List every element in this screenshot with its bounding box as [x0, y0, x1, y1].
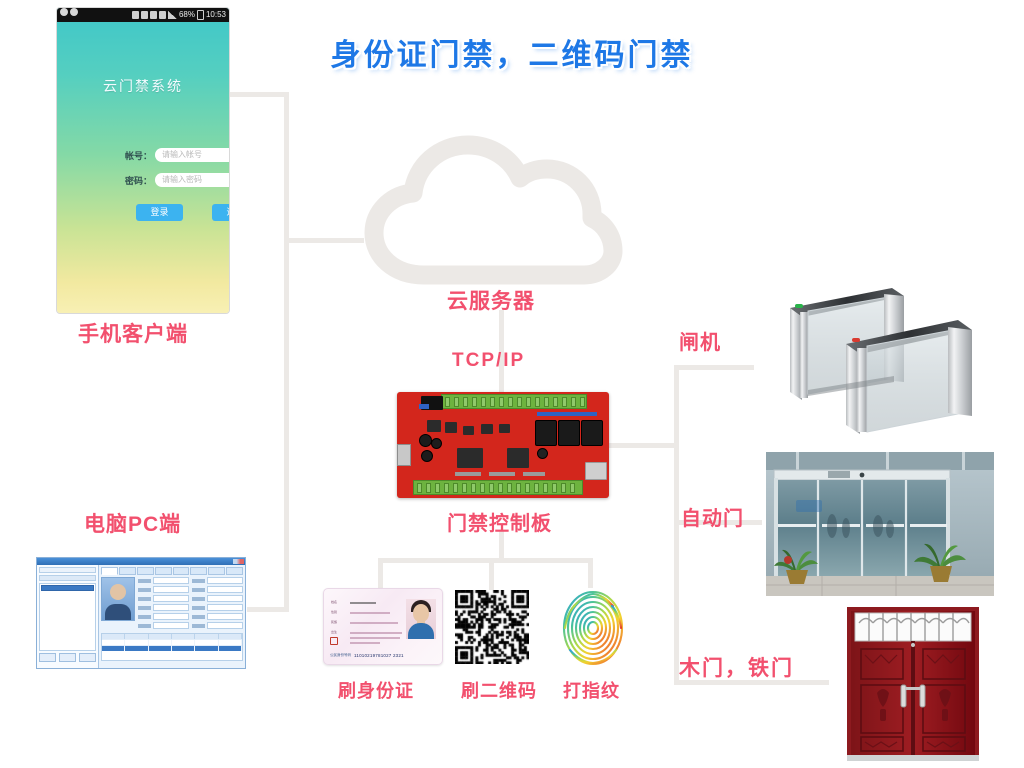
- pc-field-label: [138, 579, 151, 583]
- top-terminal-block: [441, 394, 587, 409]
- connector-phone-horizontal: [229, 92, 289, 97]
- alarm-icon: [150, 11, 157, 19]
- clock: 10:53: [206, 8, 226, 22]
- ic-chip: [499, 424, 510, 433]
- qr-code: [455, 590, 529, 664]
- fingerprint-icon: [560, 588, 626, 668]
- pc-delete-button: [79, 653, 96, 662]
- id-field-name: 姓名: [331, 600, 337, 604]
- pc-search-bar: [39, 567, 96, 573]
- id-portrait: [406, 599, 436, 639]
- pc-field-value: [207, 586, 243, 593]
- pc-tab: [101, 567, 118, 575]
- pc-form-fields-right: [192, 577, 243, 631]
- capacitor: [421, 450, 433, 462]
- pc-table-col: [172, 634, 195, 639]
- pc-field-value: [207, 622, 243, 629]
- pc-filter-bar: [39, 575, 96, 581]
- pc-table-col: [125, 634, 148, 639]
- password-input[interactable]: 请输入密码: [155, 173, 229, 187]
- pc-list-item: [41, 585, 94, 591]
- password-label: 密码：: [125, 174, 152, 187]
- id-card: 姓名 性别 民族 出生 公民身份号码 11010219781027 2321: [323, 588, 443, 665]
- connector-to-idcard: [378, 558, 383, 588]
- login-button[interactable]: 登录: [136, 204, 183, 221]
- pc-field-label: [192, 606, 205, 610]
- blue-trimmer: [419, 404, 429, 409]
- pc-button-row: [39, 653, 96, 662]
- pc-form-row: [192, 577, 243, 584]
- pc-table-col: [149, 634, 172, 639]
- pc-field-label: [138, 606, 151, 610]
- pc-table-col: [195, 634, 218, 639]
- access-control-board: [397, 392, 609, 498]
- pc-detail-panel: [99, 565, 245, 668]
- pc-table-col: [102, 634, 125, 639]
- notification-icon: [60, 8, 68, 16]
- pc-table-row: [102, 645, 242, 651]
- pc-field-value: [153, 613, 189, 620]
- automatic-sliding-door: [766, 452, 994, 596]
- connector-left-spine: [284, 92, 289, 612]
- pc-form-row: [192, 604, 243, 611]
- pc-form-row: [138, 595, 189, 602]
- pc-sidebar: [37, 565, 99, 668]
- pc-form-row: [138, 577, 189, 584]
- connector-board-right: [609, 443, 679, 448]
- pc-add-button: [39, 653, 56, 662]
- pc-field-value: [207, 595, 243, 602]
- ic-chip: [427, 420, 441, 432]
- phone-status-bar: 68% 10:53: [57, 8, 229, 22]
- qr-canvas: [455, 590, 529, 664]
- status-right-icons: 68% 10:53: [132, 8, 226, 22]
- capacitor: [419, 434, 432, 447]
- ic-chip: [445, 422, 457, 433]
- blue-components: [537, 412, 597, 416]
- police-emblem-icon: [330, 637, 338, 645]
- connector-right-spine: [674, 365, 679, 685]
- pc-field-value: [153, 622, 189, 629]
- pc-field-value: [153, 577, 189, 584]
- pc-form-row: [138, 586, 189, 593]
- bottom-terminal-block: [413, 480, 583, 495]
- pc-field-label: [138, 615, 151, 619]
- sim-icon: [159, 11, 166, 19]
- relay: [535, 420, 557, 446]
- smd-row: [489, 472, 515, 476]
- mcu-chip: [457, 448, 483, 468]
- account-field-row: 帐号： 请输入帐号: [125, 148, 229, 162]
- pc-table-header: [102, 634, 242, 639]
- label-iron-door: 木门，铁门: [679, 652, 794, 682]
- connector-left-to-cloud: [284, 238, 364, 243]
- pc-tab: [137, 567, 154, 575]
- pc-form-row: [192, 586, 243, 593]
- pc-form-row: [138, 604, 189, 611]
- pc-form-row: [192, 613, 243, 620]
- pc-form-row: [192, 595, 243, 602]
- id-field-nation: 民族: [331, 620, 337, 624]
- buzzer: [537, 448, 548, 459]
- label-turnstile: 闸机: [679, 326, 721, 355]
- id-field-sex: 性别: [331, 610, 337, 614]
- pc-field-label: [192, 588, 205, 592]
- smd-row: [523, 472, 545, 476]
- pc-window-body: [37, 565, 245, 668]
- label-protocol: TCP/IP: [452, 350, 525, 372]
- pc-tab: [119, 567, 136, 575]
- mobile-client-mockup: 68% 10:53 云门禁系统 帐号： 请输入帐号 密码： 请输入密码 登录 退…: [57, 8, 229, 313]
- id-number-label: 公民身份号码: [330, 653, 351, 658]
- signal-icon: [168, 11, 177, 19]
- pc-field-label: [192, 597, 205, 601]
- cloud-icon: [360, 125, 625, 290]
- pc-field-label: [138, 588, 151, 592]
- relay: [558, 420, 580, 446]
- pc-edit-button: [59, 653, 76, 662]
- pc-tab-bar: [101, 567, 243, 575]
- ic-chip: [463, 426, 474, 435]
- pc-form-row: [192, 622, 243, 629]
- status-left-icons: [60, 8, 78, 16]
- connector-to-fingerprint: [588, 558, 593, 588]
- pc-field-value: [153, 604, 189, 611]
- pc-tab: [226, 567, 243, 575]
- pc-tab: [208, 567, 225, 575]
- pc-person-form: [101, 577, 243, 631]
- connector-to-qr: [489, 558, 494, 590]
- connector-bottom-bus: [378, 558, 592, 563]
- battery-icon: [197, 10, 204, 20]
- pc-field-value: [207, 613, 243, 620]
- id-field-birth: 出生: [331, 630, 337, 634]
- pc-field-value: [207, 577, 243, 584]
- pc-table-col: [219, 634, 242, 639]
- pc-person-photo: [101, 577, 135, 621]
- pc-tab: [173, 567, 190, 575]
- pc-field-label: [192, 615, 205, 619]
- account-input[interactable]: 请输入帐号: [155, 148, 229, 162]
- pc-user-list: [39, 583, 96, 651]
- pc-field-label: [192, 624, 205, 628]
- relay: [581, 420, 603, 446]
- label-controller-board: 门禁控制板: [447, 507, 552, 536]
- account-label: 帐号：: [125, 149, 152, 162]
- iron-double-door: [833, 601, 993, 763]
- pc-tab: [190, 567, 207, 575]
- smd-row: [455, 472, 481, 476]
- label-fingerprint: 打指纹: [563, 677, 620, 703]
- exit-button[interactable]: 退出: [212, 204, 229, 221]
- pc-field-label: [138, 624, 151, 628]
- pc-window-titlebar: [37, 558, 245, 565]
- wifi-icon: [141, 11, 148, 19]
- ic-chip: [481, 424, 493, 434]
- app-icon: [70, 8, 78, 16]
- app-title: 云门禁系统: [57, 76, 229, 96]
- connector-to-turnstile: [674, 365, 754, 370]
- password-field-row: 密码： 请输入密码: [125, 173, 229, 187]
- cpu-chip: [507, 448, 529, 468]
- power-header: [397, 444, 411, 466]
- pc-tab: [155, 567, 172, 575]
- label-phone-client: 手机客户端: [78, 318, 188, 348]
- turnstile-gate: [762, 282, 994, 447]
- id-number: 11010219781027 2321: [354, 653, 404, 658]
- pc-field-label: [138, 597, 151, 601]
- label-scan-qr: 刷二维码: [461, 677, 537, 703]
- label-pc-client: 电脑PC端: [84, 508, 181, 538]
- pc-field-value: [207, 604, 243, 611]
- diagram-canvas: 身份证门禁，二维码门禁 68%: [0, 0, 1024, 768]
- label-auto-door: 自动门: [681, 502, 744, 531]
- pc-form-row: [138, 613, 189, 620]
- pc-client-mockup: [36, 557, 246, 669]
- pc-table-row: [102, 639, 242, 645]
- pc-field-label: [192, 579, 205, 583]
- pc-form-row: [138, 622, 189, 629]
- ethernet-port: [585, 462, 607, 480]
- capacitor: [431, 438, 442, 449]
- bluetooth-icon: [132, 11, 139, 19]
- pc-form-fields-left: [138, 577, 189, 631]
- pc-records-table: [101, 633, 243, 661]
- battery-percent: 68%: [179, 8, 195, 22]
- pc-field-value: [153, 586, 189, 593]
- label-swipe-id: 刷身份证: [338, 677, 414, 703]
- pc-field-value: [153, 595, 189, 602]
- label-cloud-server: 云服务器: [447, 285, 535, 315]
